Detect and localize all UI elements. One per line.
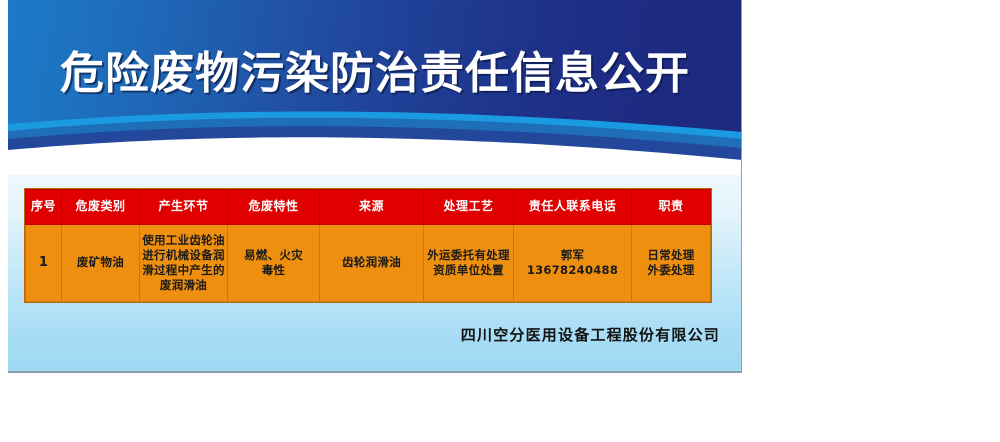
company-name: 四川空分医用设备工程股份有限公司 [25,328,720,343]
cell-duty: 日常处理 外委处理 [632,225,711,302]
cell-source: 齿轮润滑油 [320,225,424,302]
table-row: 1 废矿物油 使用工业齿轮油进行机械设备润滑过程中产生的废润滑油 易燃、火灾 毒… [26,225,711,302]
cell-contact-name: 郭军 [516,248,629,263]
column-header-category: 危废类别 [62,190,140,225]
cell-properties: 易燃、火灾 毒性 [228,225,320,302]
table-header-row: 序号 危废类别 产生环节 危废特性 来源 处理工艺 责任人联系电话 职责 [26,190,711,225]
cell-contact-phone: 13678240488 [516,263,629,278]
cell-properties-line-2: 毒性 [230,263,317,278]
column-header-properties: 危废特性 [228,190,320,225]
column-header-duty: 职责 [632,190,711,225]
column-header-serial: 序号 [26,190,62,225]
hazardous-waste-table: 序号 危废类别 产生环节 危废特性 来源 处理工艺 责任人联系电话 职责 1 废… [25,189,711,302]
page-title: 危险废物污染防治责任信息公开 [8,52,742,96]
column-header-stage: 产生环节 [140,190,228,225]
column-header-source: 来源 [320,190,424,225]
cell-properties-line-1: 易燃、火灾 [230,248,317,263]
column-header-contact: 责任人联系电话 [514,190,632,225]
cell-serial: 1 [26,225,62,302]
cell-contact: 郭军 13678240488 [514,225,632,302]
cell-process: 外运委托有处理资质单位处置 [424,225,514,302]
poster-panel: 危险废物污染防治责任信息公开 序号 危废类别 产生环节 危废特性 来源 处理工艺… [8,0,742,373]
cell-duty-line-1: 日常处理 [634,248,708,263]
cell-category: 废矿物油 [62,225,140,302]
cell-duty-line-2: 外委处理 [634,263,708,278]
column-header-process: 处理工艺 [424,190,514,225]
cell-stage: 使用工业齿轮油进行机械设备润滑过程中产生的废润滑油 [140,225,228,302]
